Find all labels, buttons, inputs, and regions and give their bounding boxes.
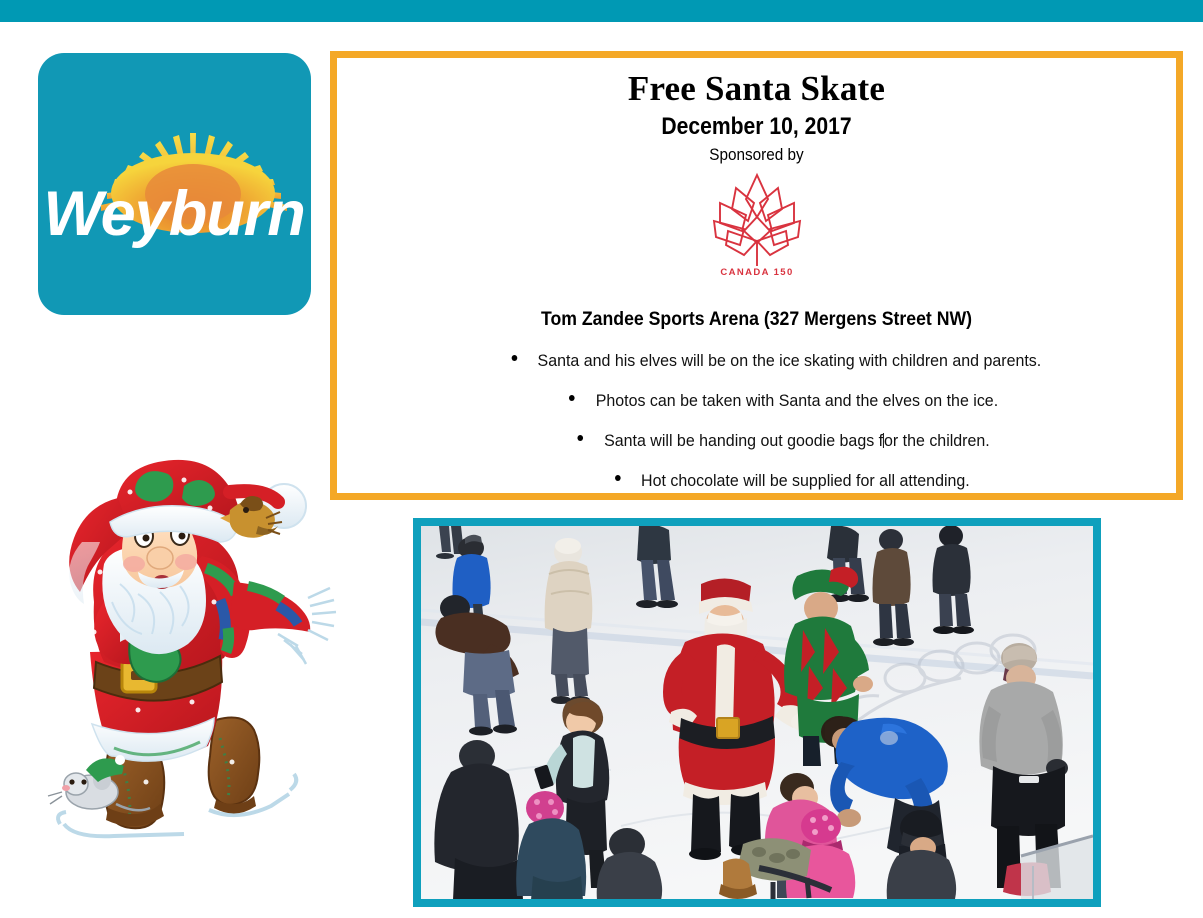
bullet-item-4: Hot chocolate will be supplied for all a… [362,471,1151,491]
canada-150-logo-icon: CANADA 150 [702,169,812,277]
bullet-item-3: Santa will be handing out goodie bags fo… [362,431,1151,451]
santa-skating-illustration [34,452,364,866]
canada-150-caption: CANADA 150 [720,267,793,277]
flyer-date: December 10, 2017 [387,113,1125,141]
bullet-text-3a: Santa will be handing out goodie bags f [604,431,883,450]
bullet-dot-icon [511,355,517,361]
flyer-title: Free Santa Skate [337,71,1176,108]
event-photo-frame [413,518,1101,907]
bullet-dot-icon [615,475,621,481]
bullet-dot-icon [578,435,584,441]
venue-line: Tom Zandee Sports Arena (327 Mergens Str… [366,309,1146,331]
event-photo-image [421,526,1093,899]
santa-skating-icon [34,452,364,866]
bullet-text-3b: or the children. [884,431,990,450]
bullet-text-2: Photos can be taken with Santa and the e… [596,391,998,410]
bullet-item-1: Santa and his elves will be on the ice s… [362,351,1151,371]
flyer-panel: Free Santa Skate December 10, 2017 Spons… [330,51,1183,500]
event-photo [421,526,1093,899]
svg-text:Weyburn: Weyburn [43,179,304,249]
top-accent-band [0,0,1203,22]
bullet-item-2: Photos can be taken with Santa and the e… [362,391,1151,411]
weyburn-logo-tile: Weyburn [38,53,311,315]
bullet-dot-icon [569,395,575,401]
weyburn-logo-icon: Weyburn [38,53,311,315]
bullet-text-1: Santa and his elves will be on the ice s… [538,351,1042,370]
flyer-bullet-list: Santa and his elves will be on the ice s… [337,351,1176,491]
sponsored-by-label: Sponsored by [379,145,1134,165]
bullet-text-4: Hot chocolate will be supplied for all a… [641,471,970,490]
